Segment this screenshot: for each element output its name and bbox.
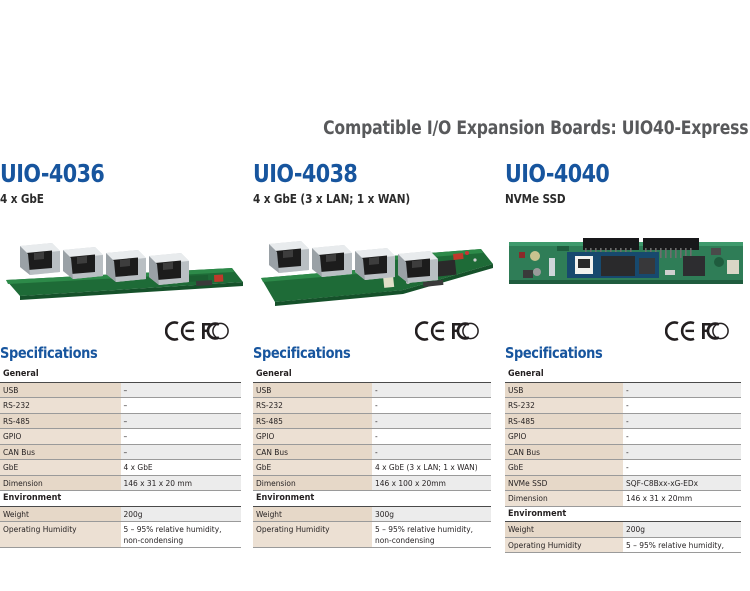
table-row: Weight 200g xyxy=(505,522,741,538)
table-row: RS-232 - xyxy=(253,398,491,414)
spec-section-header: General xyxy=(253,367,491,382)
ce-fcc-mark-icon xyxy=(165,320,231,342)
spec-key: CAN Bus xyxy=(505,444,623,460)
product-column-uio-4040: UIO-4040 NVMe SSD xyxy=(500,160,750,553)
spec-value: 146 x 31 x 20 mm xyxy=(121,475,242,491)
spec-key: Weight xyxy=(0,506,121,522)
spec-value: SQF-C8Bxx-xG-EDx xyxy=(623,475,741,491)
product-name: UIO-4036 xyxy=(0,160,222,188)
spec-value: 200g xyxy=(121,506,242,522)
spec-value: - xyxy=(372,429,491,445)
product-column-uio-4038: UIO-4038 4 x GbE (3 x LAN; 1 x WAN) xyxy=(250,160,500,553)
spec-key: Operating Humidity xyxy=(253,522,372,548)
spec-key: GbE xyxy=(505,460,623,476)
pcb-nvme-ssd-board-icon xyxy=(505,220,750,320)
spec-table-uio-4036: General USB – RS-232 – RS-485 – xyxy=(0,367,241,548)
spec-key: RS-232 xyxy=(505,398,623,414)
pcb-4x-rj45-board-icon xyxy=(0,220,250,320)
ce-fcc-mark-icon xyxy=(665,320,731,342)
spec-value: - xyxy=(623,444,741,460)
spec-value: - xyxy=(623,413,741,429)
spec-value: - xyxy=(623,382,741,398)
banner: Compatible I/O Expansion Boards: UIO40-E… xyxy=(0,118,750,139)
spec-value: – xyxy=(121,429,242,445)
spec-value: 146 x 31 x 20mm xyxy=(623,491,741,507)
product-columns: UIO-4036 4 x GbE xyxy=(0,160,750,553)
table-row: RS-232 - xyxy=(505,398,741,414)
table-row: Weight 300g xyxy=(253,506,491,522)
spec-value: 5 – 95% relative humidity, xyxy=(623,537,741,553)
table-row: Dimension 146 x 100 x 20mm xyxy=(253,475,491,491)
spec-value: - xyxy=(623,460,741,476)
table-row: Operating Humidity 5 – 95% relative humi… xyxy=(0,522,241,548)
spec-key: RS-485 xyxy=(0,413,121,429)
table-row: Dimension 146 x 31 x 20 mm xyxy=(0,475,241,491)
spec-section-label: Environment xyxy=(253,491,491,507)
spec-value: – xyxy=(121,398,242,414)
spec-key: NVMe SSD xyxy=(505,475,623,491)
spec-key: CAN Bus xyxy=(253,444,372,460)
spec-key: GbE xyxy=(253,460,372,476)
table-row: CAN Bus - xyxy=(253,444,491,460)
spec-heading: Specifications xyxy=(505,344,724,362)
spec-value: - xyxy=(372,398,491,414)
banner-title: Compatible I/O Expansion Boards: UIO40-E… xyxy=(323,118,748,139)
spec-key: RS-485 xyxy=(505,413,623,429)
spec-key: USB xyxy=(0,382,121,398)
certification-marks xyxy=(505,320,741,344)
table-row: CAN Bus - xyxy=(505,444,741,460)
spec-value: 5 – 95% relative humidity, non-condensin… xyxy=(121,522,242,548)
spec-section-label: General xyxy=(0,367,241,382)
table-row: Operating Humidity 5 – 95% relative humi… xyxy=(253,522,491,548)
table-row: CAN Bus – xyxy=(0,444,241,460)
spec-key: GPIO xyxy=(0,429,121,445)
table-row: Dimension 146 x 31 x 20mm xyxy=(505,491,741,507)
table-row: GPIO - xyxy=(253,429,491,445)
product-image-uio-4036 xyxy=(0,220,241,320)
table-row: RS-485 – xyxy=(0,413,241,429)
spec-key: Operating Humidity xyxy=(505,537,623,553)
spec-value: 4 x GbE xyxy=(121,460,242,476)
table-row: NVMe SSD SQF-C8Bxx-xG-EDx xyxy=(505,475,741,491)
product-subtitle: 4 x GbE xyxy=(0,191,224,206)
pcb-4x-rj45-wide-board-icon xyxy=(253,220,503,320)
spec-key: RS-485 xyxy=(253,413,372,429)
table-row: RS-232 – xyxy=(0,398,241,414)
spec-heading: Specifications xyxy=(0,344,224,362)
spec-heading: Specifications xyxy=(253,344,474,362)
product-image-uio-4040 xyxy=(505,220,741,320)
product-name: UIO-4038 xyxy=(253,160,472,188)
spec-section-header: General xyxy=(505,367,741,382)
product-column-uio-4036: UIO-4036 4 x GbE xyxy=(0,160,250,553)
product-image-uio-4038 xyxy=(253,220,491,320)
spec-key: Weight xyxy=(253,506,372,522)
table-row: GbE 4 x GbE xyxy=(0,460,241,476)
table-row: RS-485 - xyxy=(505,413,741,429)
certification-marks xyxy=(0,320,241,344)
table-row: GbE 4 x GbE (3 x LAN; 1 x WAN) xyxy=(253,460,491,476)
spec-value: – xyxy=(121,444,242,460)
table-row: Operating Humidity 5 – 95% relative humi… xyxy=(505,537,741,553)
spec-section-header: Environment xyxy=(505,506,741,522)
spec-key: GPIO xyxy=(505,429,623,445)
spec-value: - xyxy=(372,413,491,429)
spec-section-header: General xyxy=(0,367,241,382)
spec-section-header: Environment xyxy=(253,491,491,507)
spec-section-label: General xyxy=(505,367,741,382)
spec-value: 300g xyxy=(372,506,491,522)
spec-value: - xyxy=(623,429,741,445)
spec-value: - xyxy=(372,382,491,398)
table-row: USB – xyxy=(0,382,241,398)
spec-section-label: General xyxy=(253,367,491,382)
spec-section-header: Environment xyxy=(0,491,241,507)
spec-value: - xyxy=(623,398,741,414)
spec-value: 5 – 95% relative humidity, non-condensin… xyxy=(372,522,491,548)
ce-fcc-mark-icon xyxy=(415,320,481,342)
spec-key: Dimension xyxy=(253,475,372,491)
spec-key: USB xyxy=(505,382,623,398)
product-subtitle: 4 x GbE (3 x LAN; 1 x WAN) xyxy=(253,191,474,206)
datasheet-page: Compatible I/O Expansion Boards: UIO40-E… xyxy=(0,0,750,591)
table-row: Weight 200g xyxy=(0,506,241,522)
table-row: USB - xyxy=(505,382,741,398)
spec-key: Operating Humidity xyxy=(0,522,121,548)
table-row: GPIO – xyxy=(0,429,241,445)
spec-value: 200g xyxy=(623,522,741,538)
spec-table-uio-4040: General USB - RS-232 - RS-485 - xyxy=(505,367,741,553)
spec-value: 146 x 100 x 20mm xyxy=(372,475,491,491)
spec-key: Dimension xyxy=(505,491,623,507)
spec-section-label: Environment xyxy=(505,506,741,522)
table-row: GbE - xyxy=(505,460,741,476)
spec-value: 4 x GbE (3 x LAN; 1 x WAN) xyxy=(372,460,491,476)
spec-key: RS-232 xyxy=(0,398,121,414)
spec-key: Dimension xyxy=(0,475,121,491)
spec-key: CAN Bus xyxy=(0,444,121,460)
product-name: UIO-4040 xyxy=(505,160,722,188)
spec-value: – xyxy=(121,413,242,429)
table-row: GPIO - xyxy=(505,429,741,445)
spec-key: Weight xyxy=(505,522,623,538)
spec-key: USB xyxy=(253,382,372,398)
spec-key: RS-232 xyxy=(253,398,372,414)
spec-key: GPIO xyxy=(253,429,372,445)
spec-section-label: Environment xyxy=(0,491,241,507)
spec-value: – xyxy=(121,382,242,398)
product-subtitle: NVMe SSD xyxy=(505,191,724,206)
spec-table-uio-4038: General USB - RS-232 - RS-485 - xyxy=(253,367,491,548)
table-row: RS-485 - xyxy=(253,413,491,429)
spec-value: - xyxy=(372,444,491,460)
table-row: USB - xyxy=(253,382,491,398)
spec-key: GbE xyxy=(0,460,121,476)
certification-marks xyxy=(253,320,491,344)
